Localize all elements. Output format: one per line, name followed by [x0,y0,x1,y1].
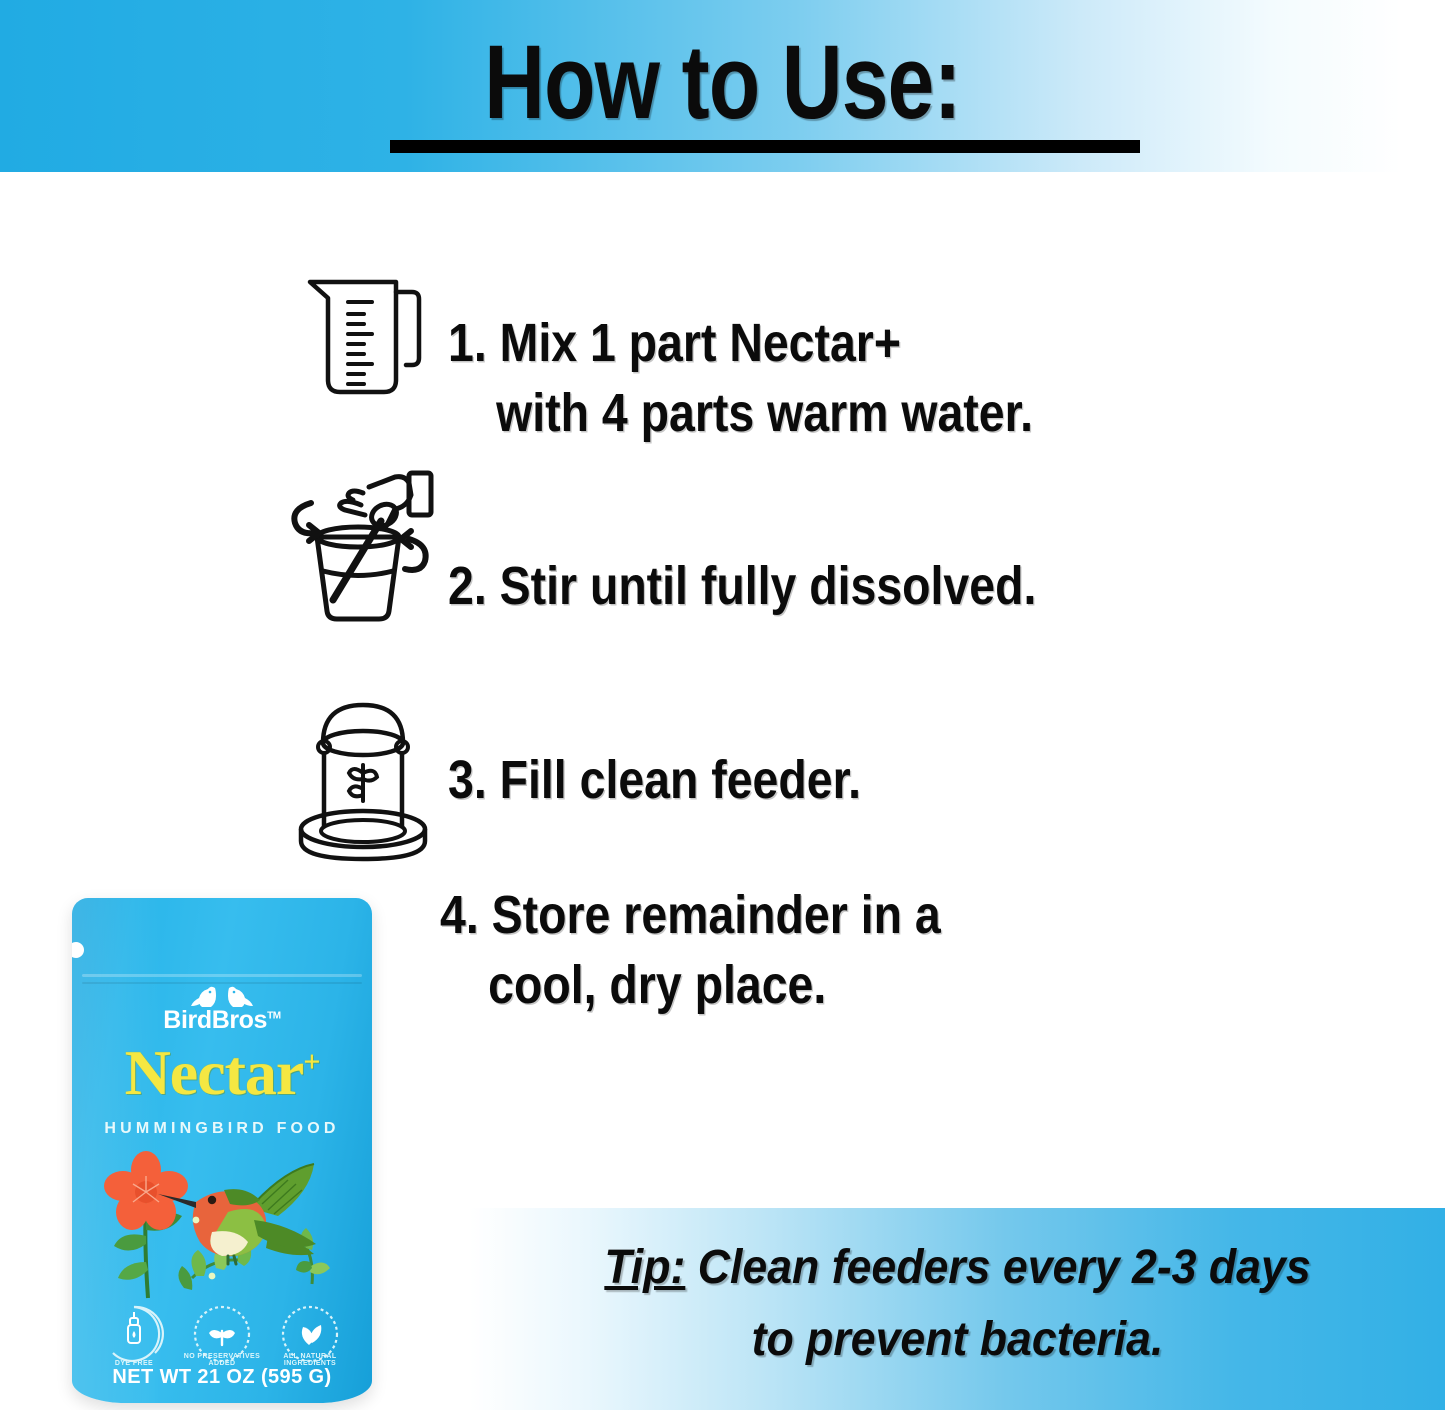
stirring-spoon-in-glass-icon [278,465,448,630]
step-4-text: 4. Store remainder in acool, dry place. [440,880,941,1020]
hummingbird-and-flower-illustration [100,1150,344,1300]
product-subtitle: HUMMINGBIRD FOOD [72,1120,372,1138]
badge-dye-free: DYE FREE [103,1303,165,1365]
step-2-text: 2. Stir until fully dissolved. [448,465,1036,621]
bird-feeder-icon [278,695,448,870]
title-underline [390,140,1140,153]
tip-text: Tip: Clean feeders every 2-3 daysto prev… [504,1232,1411,1376]
product-name: Nectar+ [72,1036,372,1110]
step-item-3: 3. Fill clean feeder. [278,695,928,870]
zipper-seal [82,974,362,977]
tip-prefix: Tip: [604,1241,685,1294]
badge-no-preservatives: NO PRESERVATIVES ADDED [191,1303,253,1365]
step-3-text: 3. Fill clean feeder. [448,695,861,815]
page-title: How to Use: [145,30,1301,135]
tip-line-1: Clean feeders every 2-3 days [685,1241,1310,1294]
step-item-1: 1. Mix 1 part Nectar+with 4 parts warm w… [278,260,1128,448]
badge-label: ALL NATURAL INGREDIENTS [269,1353,351,1367]
badge-all-natural: ALL NATURAL INGREDIENTS [279,1303,341,1365]
tip-banner: Tip: Clean feeders every 2-3 daysto prev… [470,1208,1445,1410]
product-package: BirdBrosTM Nectar+ HUMMINGBIRD FOOD [72,898,372,1403]
header-banner: How to Use: [0,0,1445,172]
step-1-text: 1. Mix 1 part Nectar+with 4 parts warm w… [448,260,1033,448]
how-to-use-infographic: How to Use: [0,0,1445,1410]
product-badges: DYE FREE NO PRESERVATIVES ADDED [90,1303,354,1365]
net-weight: NET WT 21 OZ (595 G) [72,1366,372,1389]
step-item-2: 2. Stir until fully dissolved. [278,465,1132,630]
brand-name: BirdBrosTM [72,1006,372,1035]
step-item-4: 4. Store remainder in acool, dry place. [440,880,1022,1020]
measuring-cup-icon [278,260,448,410]
tip-line-2: to prevent bacteria. [752,1313,1164,1366]
badge-label: NO PRESERVATIVES ADDED [181,1353,263,1367]
